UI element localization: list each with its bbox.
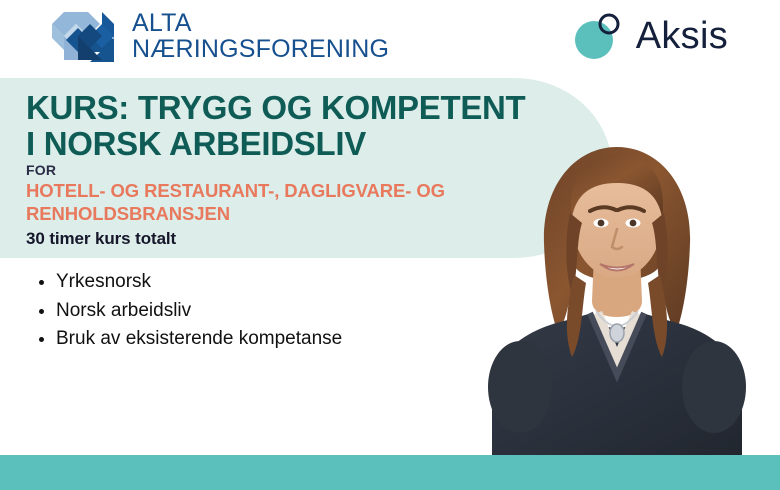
list-item: Norsk arbeidsliv	[56, 297, 342, 326]
portrait-illustration	[486, 125, 748, 455]
alta-wordmark-line-2: NÆRINGSFORENING	[132, 36, 389, 62]
pupil-right	[630, 220, 637, 227]
sleeve-right	[682, 341, 746, 433]
sleeve-left	[488, 341, 552, 433]
course-topics-list: Yrkesnorsk Norsk arbeidsliv Bruk av eksi…	[30, 268, 342, 354]
alta-naeringsforening-wordmark: ALTA NÆRINGSFORENING	[132, 10, 389, 62]
sectors-line-1: HOTELL- OG RESTAURANT-, DAGLIGVARE- OG	[26, 180, 496, 203]
list-item: Bruk av eksisterende kompetanse	[56, 325, 342, 354]
headline-line-1: KURS: TRYGG OG KOMPETENT	[26, 90, 586, 126]
pupil-left	[598, 220, 605, 227]
alta-wordmark-line-1: ALTA	[132, 10, 389, 36]
aksis-logo: Aksis	[572, 10, 728, 62]
necklace-pendant	[610, 324, 624, 342]
course-duration: 30 timer kurs totalt	[26, 229, 176, 249]
sectors-line-2: RENHOLDSBRANSJEN	[26, 203, 496, 226]
alta-naeringsforening-hexagon-mark	[44, 8, 122, 64]
for-label: FOR	[26, 162, 56, 178]
footer-bar	[0, 455, 780, 490]
course-promo-poster: ALTA NÆRINGSFORENING Aksis KURS: TRYGG O…	[0, 0, 780, 490]
list-item: Yrkesnorsk	[56, 268, 342, 297]
aksis-circle-mark	[572, 10, 624, 62]
alta-naeringsforening-logo: ALTA NÆRINGSFORENING	[44, 8, 389, 64]
aksis-wordmark: Aksis	[636, 17, 728, 55]
course-instructor-portrait	[486, 125, 748, 455]
target-sectors: HOTELL- OG RESTAURANT-, DAGLIGVARE- OG R…	[26, 180, 496, 225]
